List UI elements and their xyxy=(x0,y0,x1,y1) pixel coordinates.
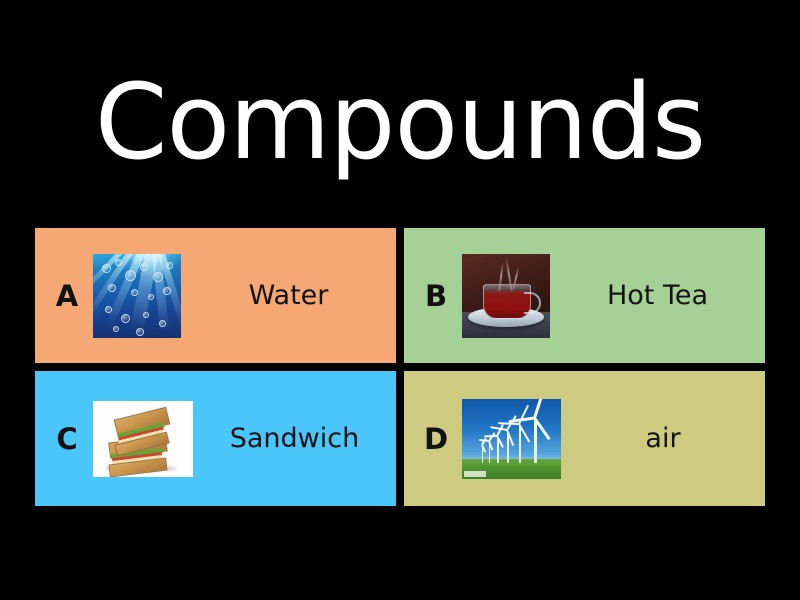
answer-option-b[interactable]: B Hot Tea xyxy=(404,228,765,363)
hot-tea-cup-icon xyxy=(462,254,550,338)
sandwich-icon xyxy=(93,401,193,477)
answer-image-b xyxy=(462,254,550,338)
underwater-bubbles-icon xyxy=(93,254,181,338)
answer-option-d[interactable]: D xyxy=(404,371,765,506)
answer-image-c xyxy=(93,401,193,477)
answer-letter-a: A xyxy=(41,279,93,313)
wind-turbines-icon xyxy=(462,399,561,479)
answer-options-grid: A xyxy=(35,228,765,506)
answer-image-a xyxy=(93,254,181,338)
photo-credit-watermark xyxy=(464,471,486,477)
answer-option-c[interactable]: C Sandwich xyxy=(35,371,396,506)
answer-label-a: Water xyxy=(181,280,396,311)
answer-label-b: Hot Tea xyxy=(550,280,765,311)
page-title: Compounds xyxy=(0,62,800,182)
answer-option-a[interactable]: A xyxy=(35,228,396,363)
answer-image-d xyxy=(462,399,561,479)
answer-letter-d: D xyxy=(410,422,462,456)
answer-letter-c: C xyxy=(41,422,93,456)
answer-label-d: air xyxy=(561,423,765,454)
quiz-slide: Compounds A xyxy=(0,0,800,600)
answer-letter-b: B xyxy=(410,279,462,313)
answer-label-c: Sandwich xyxy=(193,423,396,454)
